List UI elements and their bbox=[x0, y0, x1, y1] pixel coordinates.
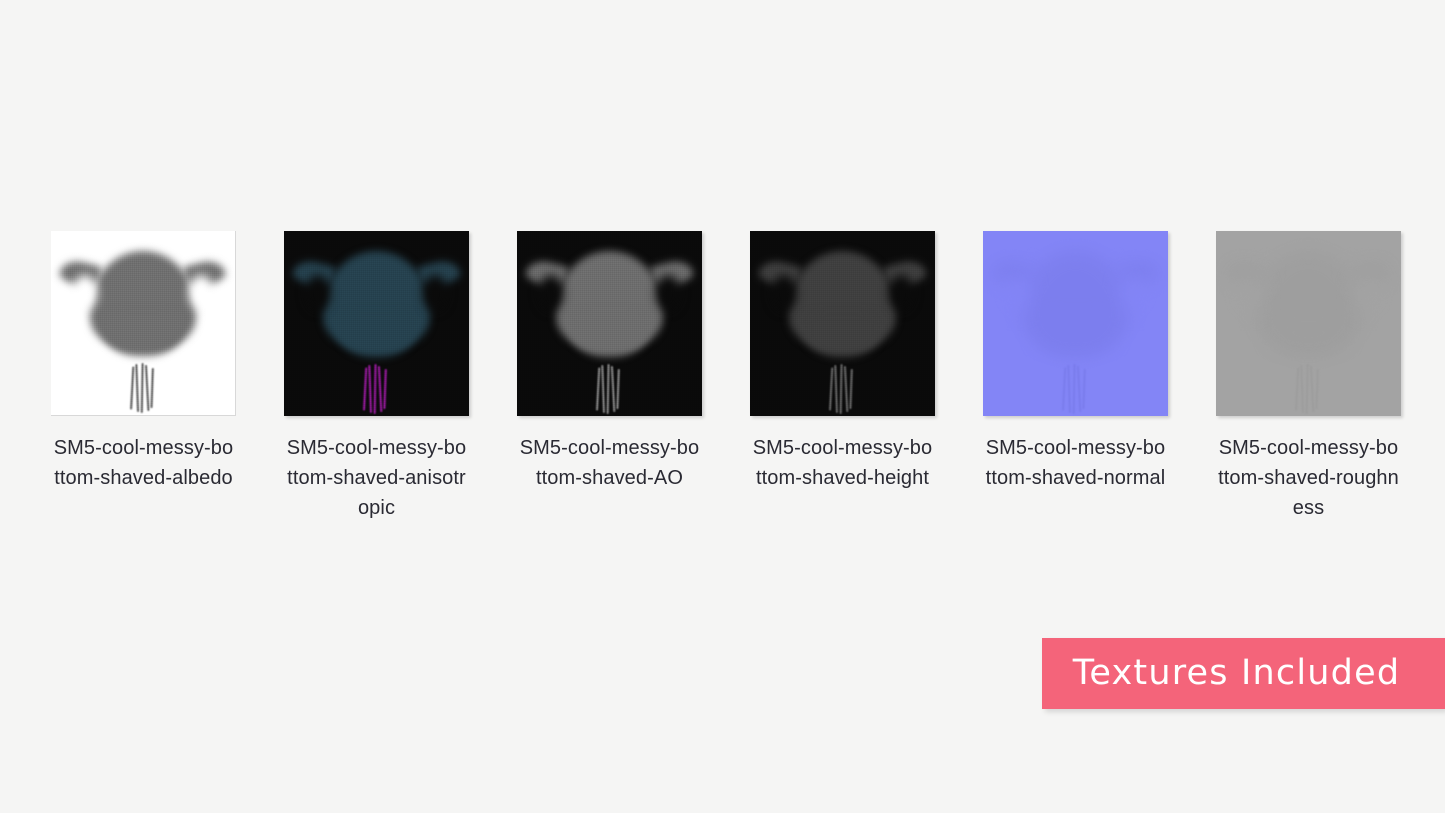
strand bbox=[1300, 365, 1304, 413]
silhouette-part-notch-r bbox=[1355, 275, 1379, 310]
strand bbox=[840, 364, 843, 414]
silhouette-part-jaw bbox=[1037, 312, 1115, 356]
texture-label: SM5-cool-messy-bottom-shaved-anisotropic bbox=[284, 433, 469, 523]
silhouette-part-notch-r bbox=[423, 275, 447, 310]
strand-tuft bbox=[363, 364, 391, 414]
strand bbox=[378, 366, 382, 412]
strand bbox=[829, 368, 833, 411]
texture-thumbnail[interactable] bbox=[517, 231, 702, 416]
texture-grid: SM5-cool-messy-bottom-shaved-albedoSM5-c… bbox=[51, 231, 1401, 523]
strand bbox=[601, 365, 605, 413]
silhouette-part-jaw bbox=[804, 312, 882, 356]
strand bbox=[850, 369, 853, 409]
texture-label: SM5-cool-messy-bottom-shaved-AO bbox=[517, 433, 702, 493]
silhouette-part-notch-l bbox=[73, 275, 97, 310]
strand bbox=[617, 369, 620, 409]
strand-tuft bbox=[1295, 364, 1323, 414]
texture-tile-anisotropic[interactable]: SM5-cool-messy-bottom-shaved-anisotropic bbox=[284, 231, 469, 523]
strand bbox=[135, 364, 139, 412]
silhouette-part-notch-l bbox=[1238, 275, 1262, 310]
strand bbox=[1062, 368, 1066, 411]
strand bbox=[130, 367, 134, 410]
strand bbox=[363, 368, 367, 411]
strand bbox=[1306, 364, 1309, 414]
silhouette-part-jaw bbox=[338, 312, 416, 356]
strand-tuft bbox=[596, 364, 624, 414]
texture-tile-albedo[interactable]: SM5-cool-messy-bottom-shaved-albedo bbox=[51, 231, 236, 493]
silhouette-part-notch-r bbox=[1122, 275, 1146, 310]
silhouette-part-notch-r bbox=[656, 275, 680, 310]
texture-tile-height[interactable]: SM5-cool-messy-bottom-shaved-height bbox=[750, 231, 935, 493]
strand bbox=[374, 364, 377, 414]
strand bbox=[611, 366, 615, 412]
strand bbox=[1316, 369, 1319, 409]
strand bbox=[150, 368, 153, 408]
strand bbox=[1067, 365, 1071, 413]
silhouette-part-jaw bbox=[571, 312, 649, 356]
strand bbox=[384, 369, 387, 409]
silhouette-part-notch-l bbox=[539, 275, 563, 310]
texture-thumbnail[interactable] bbox=[51, 231, 236, 416]
strand bbox=[140, 363, 143, 413]
textures-included-label: Textures Included bbox=[1073, 656, 1415, 691]
texture-tile-ao[interactable]: SM5-cool-messy-bottom-shaved-AO bbox=[517, 231, 702, 493]
texture-thumbnail[interactable] bbox=[750, 231, 935, 416]
strand bbox=[596, 368, 600, 411]
texture-label: SM5-cool-messy-bottom-shaved-albedo bbox=[51, 433, 236, 493]
texture-thumbnail[interactable] bbox=[1216, 231, 1401, 416]
silhouette-part-notch-r bbox=[189, 275, 213, 310]
strand bbox=[368, 365, 372, 413]
texture-tile-normal[interactable]: SM5-cool-messy-bottom-shaved-normal bbox=[983, 231, 1168, 493]
texture-label: SM5-cool-messy-bottom-shaved-roughness bbox=[1216, 433, 1401, 523]
silhouette-part-notch-r bbox=[889, 275, 913, 310]
strand-tuft bbox=[829, 364, 857, 414]
strand bbox=[844, 366, 848, 412]
silhouette-part-notch-l bbox=[772, 275, 796, 310]
texture-tile-roughness[interactable]: SM5-cool-messy-bottom-shaved-roughness bbox=[1216, 231, 1401, 523]
strand bbox=[1295, 368, 1299, 411]
strand-tuft bbox=[1062, 364, 1090, 414]
strand bbox=[1073, 364, 1076, 414]
silhouette-part-notch-l bbox=[306, 275, 330, 310]
strand bbox=[1083, 369, 1086, 409]
strand bbox=[607, 364, 610, 414]
texture-label: SM5-cool-messy-bottom-shaved-normal bbox=[983, 433, 1168, 493]
silhouette-part-jaw bbox=[1270, 312, 1348, 356]
texture-thumbnail[interactable] bbox=[284, 231, 469, 416]
silhouette-part-notch-l bbox=[1005, 275, 1029, 310]
strand bbox=[834, 365, 838, 413]
strand bbox=[1077, 366, 1081, 412]
strand bbox=[145, 365, 149, 411]
strand-tuft bbox=[129, 363, 157, 413]
silhouette-part-jaw bbox=[104, 312, 181, 356]
textures-included-badge: Textures Included bbox=[1042, 638, 1445, 709]
texture-thumbnail[interactable] bbox=[983, 231, 1168, 416]
strand bbox=[1310, 366, 1314, 412]
texture-label: SM5-cool-messy-bottom-shaved-height bbox=[750, 433, 935, 493]
